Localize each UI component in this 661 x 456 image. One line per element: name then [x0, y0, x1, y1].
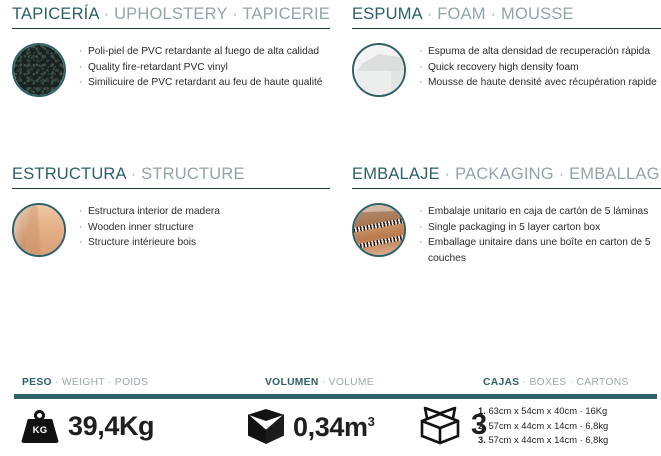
section-divider	[352, 188, 661, 189]
feature-list-packaging: · Embalaje unitario en caja de cartón de…	[419, 203, 661, 266]
section-title-primary: ESTRUCTURA	[12, 165, 126, 183]
list-item-label: Quality fire-retardant PVC vinyl	[88, 60, 322, 76]
list-item: · Embalaje unitario en caja de cartón de…	[419, 204, 661, 220]
section-packaging: EMBALAJE · PACKAGING · EMBALLAGE · Embal…	[352, 164, 661, 266]
box-index: 1.	[478, 405, 486, 416]
box-dimensions: 63cm x 54cm x 40cm · 16Kg	[488, 405, 607, 416]
section-body-upholstery: · Poli-piel de PVC retardante al fuego d…	[12, 43, 330, 97]
corrugation-band	[352, 232, 406, 251]
specs-header-primary: CAJAS	[483, 377, 519, 388]
section-body-packaging: · Embalaje unitario en caja de cartón de…	[352, 203, 661, 266]
section-title-alt-en: UPHOLSTERY	[114, 5, 227, 23]
section-title-foam: ESPUMA · FOAM · MOUSSE	[352, 4, 661, 24]
section-title-alt-fr: EMBALLAGE	[569, 165, 661, 183]
list-item: · Wooden inner structure	[79, 220, 220, 236]
specs-header-alt-en: BOXES	[529, 377, 566, 388]
specs-header-alt-fr: CARTONS	[577, 377, 629, 388]
specs-header-primary: PESO	[22, 377, 52, 388]
section-title-alt-en: FOAM	[437, 5, 485, 23]
title-separator: ·	[232, 5, 238, 23]
bullet-marker-icon: ·	[419, 44, 428, 60]
specs-footer: PESO · WEIGHT · POIDS VOLUMEN · VOLUME C…	[0, 374, 661, 456]
section-structure: ESTRUCTURA · STRUCTURE · Estructura inte…	[12, 164, 330, 257]
specs-header-primary: VOLUMEN	[265, 377, 319, 388]
list-item-label: Embalaje unitario en caja de cartón de 5…	[428, 204, 661, 220]
list-item: 2. 57cm x 44cm x 14cm · 6,8kg	[478, 419, 661, 434]
section-foam: ESPUMA · FOAM · MOUSSE · Espuma	[352, 4, 661, 97]
feature-list-structure: · Estructura interior de madera · Wooden…	[79, 203, 220, 251]
section-title-alt-en: PACKAGING	[455, 165, 554, 183]
section-title-primary: TAPICERÍA	[12, 5, 99, 23]
section-title-primary: ESPUMA	[352, 5, 422, 23]
box-index: 2.	[478, 420, 486, 431]
weight-icon: KG	[20, 408, 60, 444]
list-item: · Quick recovery high density foam	[419, 60, 657, 76]
specs-divider-bar	[14, 394, 657, 399]
volume-value-group: 0,34m3	[293, 412, 374, 442]
volume-value: 0,34m	[293, 412, 368, 442]
list-item-label: Similicuire de PVC retardant au feu de h…	[88, 75, 322, 91]
feature-list-foam: · Espuma de alta densidad de recuperació…	[419, 43, 657, 91]
bullet-marker-icon: ·	[419, 204, 428, 220]
list-item: · Estructura interior de madera	[79, 204, 220, 220]
title-separator: ·	[104, 5, 110, 23]
foam-swatch-fill	[354, 45, 404, 95]
spec-weight: KG 39,4Kg	[20, 408, 154, 444]
specs-header-weight: PESO · WEIGHT · POIDS	[22, 376, 148, 389]
box-dimensions: 57cm x 44cm x 14cm · 6,8kg	[488, 420, 608, 431]
foam-side-face	[391, 67, 405, 94]
list-item: · Mousse de haute densité avec récupérat…	[419, 75, 657, 91]
section-body-structure: · Estructura interior de madera · Wooden…	[12, 203, 330, 257]
list-item-label: Wooden inner structure	[88, 220, 220, 236]
vinyl-texture-fill	[14, 45, 64, 95]
title-separator: ·	[55, 377, 59, 388]
cardboard-texture-swatch	[352, 203, 406, 257]
weight-icon-label: KG	[20, 425, 60, 436]
title-separator: ·	[445, 165, 451, 183]
section-title-alt-fr: TAPICERIE	[242, 5, 330, 23]
specs-header-alt-fr: POIDS	[115, 377, 149, 388]
bullet-marker-icon: ·	[79, 204, 88, 220]
bullet-marker-icon: ·	[419, 235, 428, 251]
list-item-label: Estructura interior de madera	[88, 204, 220, 220]
list-item-label: Quick recovery high density foam	[428, 60, 657, 76]
bullet-marker-icon: ·	[419, 75, 428, 91]
list-item: · Poli-piel de PVC retardante al fuego d…	[79, 44, 322, 60]
bullet-marker-icon: ·	[79, 44, 88, 60]
section-title-alt-fr: MOUSSE	[501, 5, 574, 23]
box-dimensions: 57cm x 44cm x 14cm · 6,8kg	[488, 434, 608, 445]
box-index: 3.	[478, 434, 486, 445]
feature-list-upholstery: · Poli-piel de PVC retardante al fuego d…	[79, 43, 322, 91]
boxes-dimensions-list: 1. 63cm x 54cm x 40cm · 16Kg 2. 57cm x 4…	[478, 404, 661, 448]
section-title-structure: ESTRUCTURA · STRUCTURE	[12, 164, 330, 184]
list-item: · Structure intérieure bois	[79, 235, 220, 251]
list-item: · Single packaging in 5 layer carton box	[419, 220, 661, 236]
list-item: 3. 57cm x 44cm x 14cm · 6,8kg	[478, 433, 661, 448]
title-separator: ·	[559, 165, 565, 183]
specs-header-alt-en: WEIGHT	[62, 377, 105, 388]
list-item-label: Single packaging in 5 layer carton box	[428, 220, 661, 236]
vinyl-texture-swatch	[12, 43, 66, 97]
bullet-marker-icon: ·	[79, 220, 88, 236]
specs-header-boxes: CAJAS · BOXES · CARTONS	[483, 376, 629, 389]
title-separator: ·	[523, 377, 527, 388]
corrugation-band	[352, 215, 406, 234]
bullet-marker-icon: ·	[79, 60, 88, 76]
weight-value: 39,4Kg	[68, 411, 154, 441]
cardboard-texture-fill	[354, 205, 404, 255]
section-title-packaging: EMBALAJE · PACKAGING · EMBALLAGE	[352, 164, 661, 184]
spec-volume: 0,34m3	[248, 408, 374, 446]
volume-exponent: 3	[368, 414, 375, 429]
list-item-label: Espuma de alta densidad de recuperación …	[428, 44, 657, 60]
foam-block-shape	[357, 54, 405, 92]
section-body-foam: · Espuma de alta densidad de recuperació…	[352, 43, 661, 97]
title-separator: ·	[108, 377, 112, 388]
bullet-marker-icon: ·	[419, 220, 428, 236]
spec-boxes: 3	[416, 404, 487, 446]
title-separator: ·	[322, 377, 326, 388]
section-divider	[352, 28, 661, 29]
specs-header-alt-en: VOLUME	[329, 377, 374, 388]
section-divider	[12, 188, 330, 189]
foam-block-swatch	[352, 43, 406, 97]
foam-top-face	[357, 54, 405, 71]
list-item: 1. 63cm x 54cm x 40cm · 16Kg	[478, 404, 661, 419]
section-title-upholstery: TAPICERÍA · UPHOLSTERY · TAPICERIE	[12, 4, 330, 24]
list-item-label: Structure intérieure bois	[88, 235, 220, 251]
wood-texture-fill	[14, 205, 64, 255]
section-upholstery: TAPICERÍA · UPHOLSTERY · TAPICERIE · Pol…	[12, 4, 330, 97]
bullet-marker-icon: ·	[419, 60, 428, 76]
specs-values-row: KG 39,4Kg 0,34m3	[0, 404, 661, 456]
list-item: · Emballage unitaire dans une boîte en c…	[419, 235, 661, 266]
bullet-marker-icon: ·	[79, 75, 88, 91]
open-box-icon	[416, 404, 464, 446]
section-title-primary: EMBALAJE	[352, 165, 440, 183]
section-divider	[12, 28, 330, 29]
list-item: · Quality fire-retardant PVC vinyl	[79, 60, 322, 76]
list-item: · Espuma de alta densidad de recuperació…	[419, 44, 657, 60]
specs-header-volume: VOLUMEN · VOLUME	[265, 376, 374, 389]
bullet-marker-icon: ·	[79, 235, 88, 251]
list-item-label: Emballage unitaire dans une boîte en car…	[428, 235, 661, 266]
title-separator: ·	[491, 5, 497, 23]
specs-header-row: PESO · WEIGHT · POIDS VOLUMEN · VOLUME C…	[0, 374, 661, 392]
section-title-alt-en: STRUCTURE	[141, 165, 245, 183]
wood-texture-swatch	[12, 203, 66, 257]
title-separator: ·	[131, 165, 137, 183]
title-separator: ·	[427, 5, 433, 23]
list-item-label: Poli-piel de PVC retardante al fuego de …	[88, 44, 322, 60]
feature-sections: TAPICERÍA · UPHOLSTERY · TAPICERIE · Pol…	[0, 0, 661, 370]
list-item: · Similicuire de PVC retardant au feu de…	[79, 75, 322, 91]
cube-icon	[248, 408, 284, 446]
list-item-label: Mousse de haute densité avec récupératio…	[428, 75, 657, 91]
title-separator: ·	[570, 377, 574, 388]
